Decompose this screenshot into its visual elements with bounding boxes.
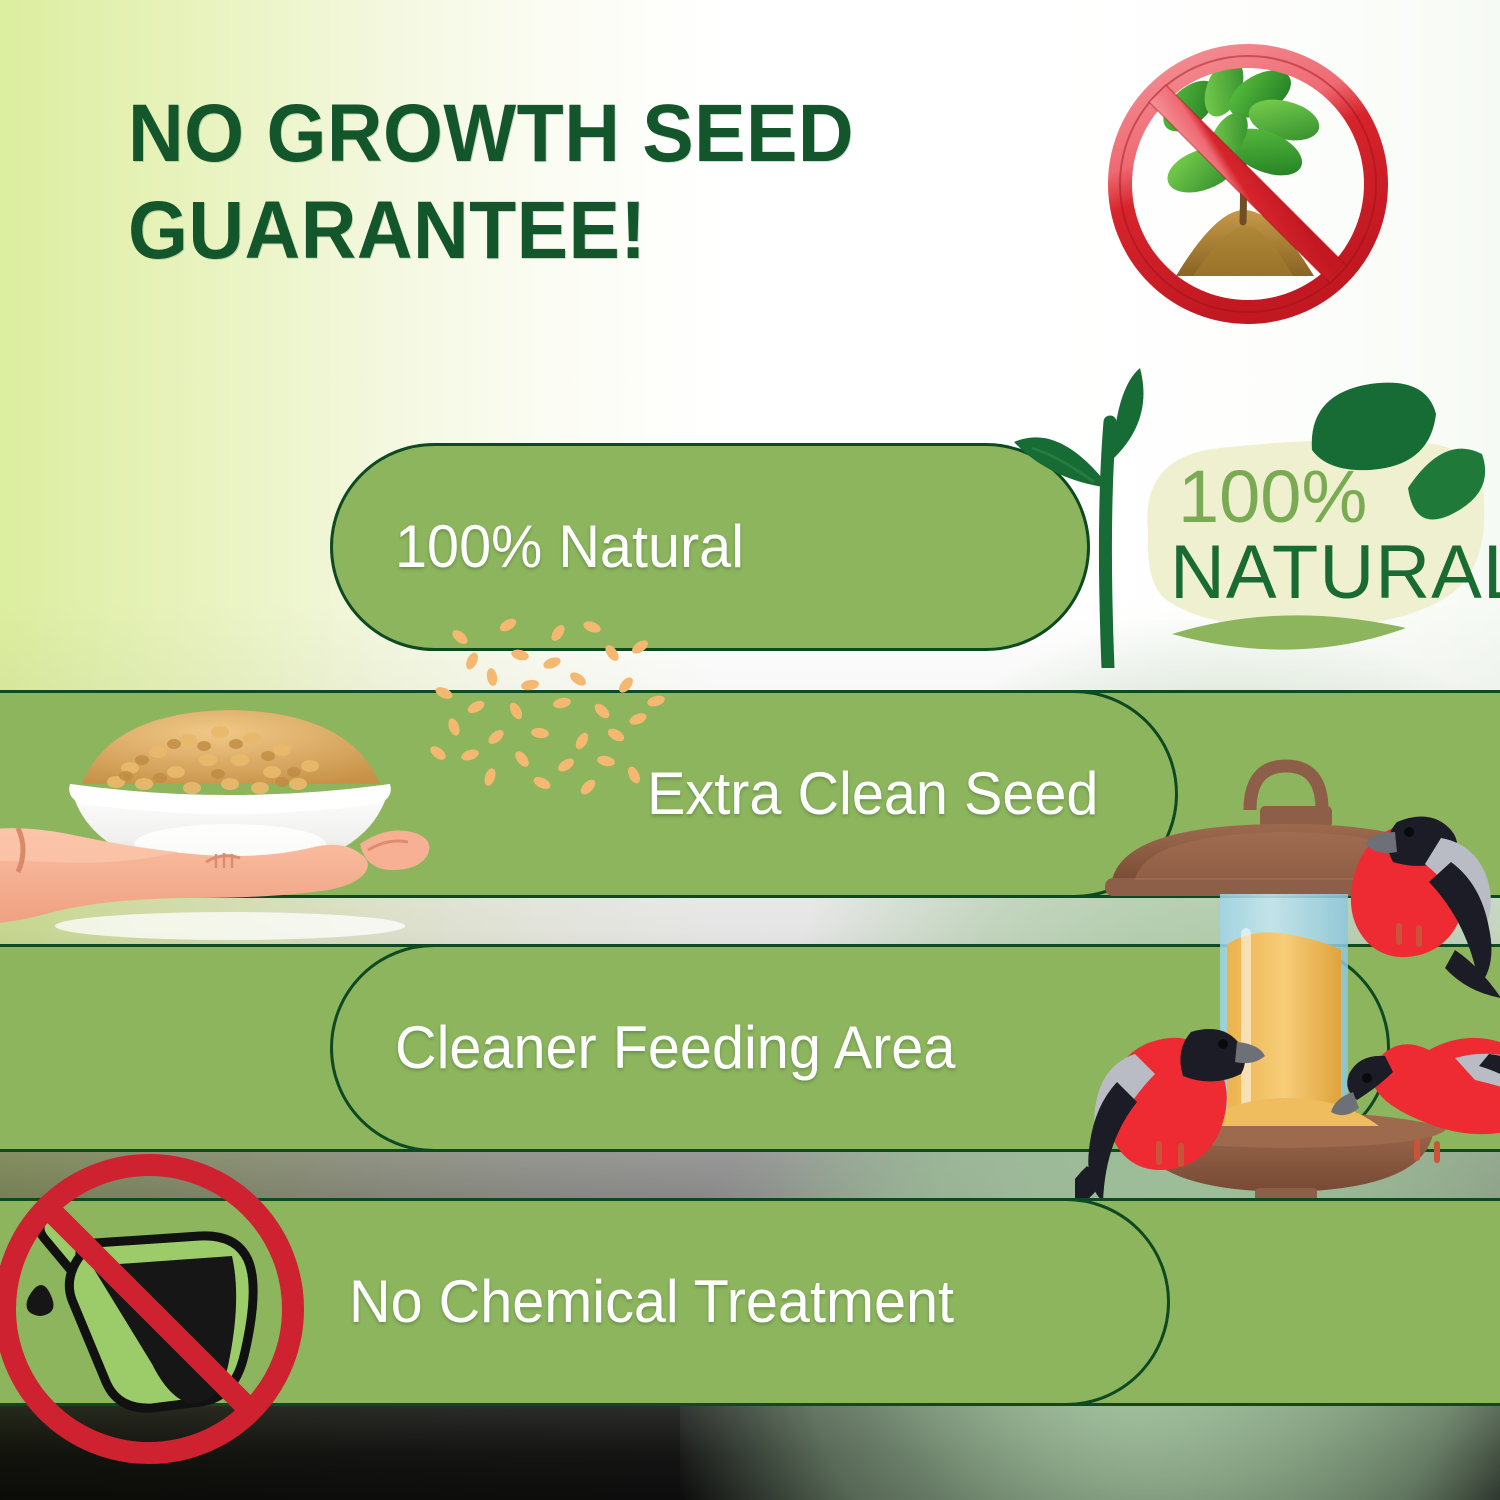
feature-label-no-chemical-treatment: No Chemical Treatment: [349, 1272, 954, 1332]
feature-label-extra-clean-seed: Extra Clean Seed: [647, 764, 1098, 824]
natural-badge-word: NATURAL: [1170, 530, 1500, 615]
no-plant-growth-icon: [1098, 44, 1398, 334]
no-chemical-icon: [0, 1148, 310, 1470]
page-title: NO GROWTH SEED GUARANTEE!: [128, 86, 1002, 280]
feature-label-cleaner-feeding-area: Cleaner Feeding Area: [395, 1018, 955, 1078]
scattered-seeds-illustration: [430, 615, 680, 805]
bird-feeder-illustration: [1075, 718, 1500, 1218]
feature-label-natural: 100% Natural: [395, 517, 744, 577]
natural-badge: 100% NATURAL: [1090, 372, 1500, 672]
natural-badge-percent: 100%: [1178, 455, 1367, 538]
poster-root: NO GROWTH SEED GUARANTEE!: [0, 0, 1500, 1500]
